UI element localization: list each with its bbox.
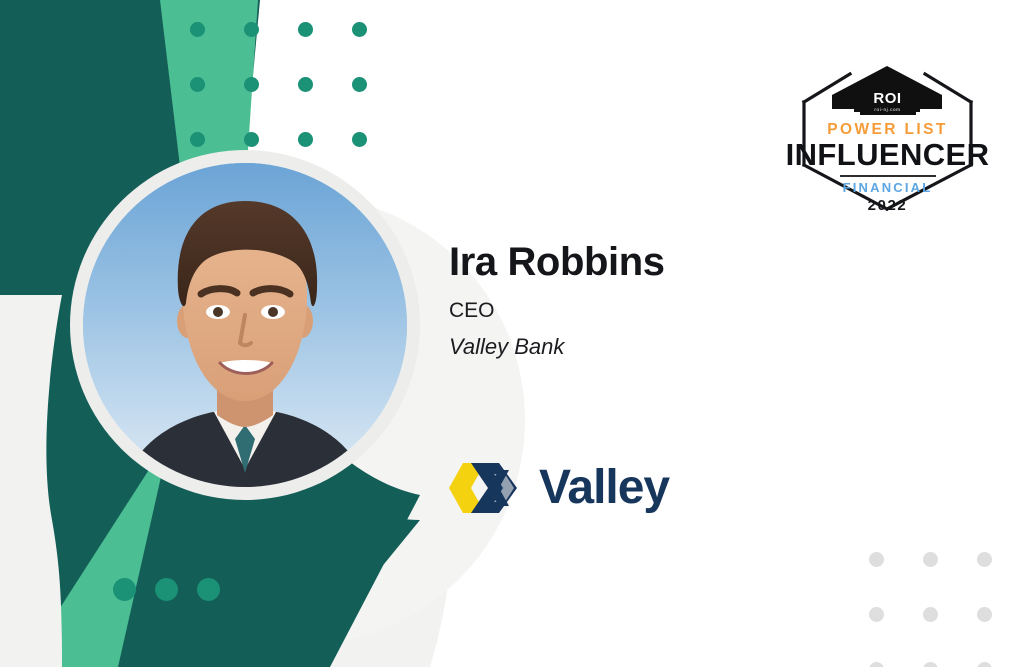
dot <box>977 607 992 622</box>
dot <box>352 77 367 92</box>
dot <box>244 77 259 92</box>
dot <box>352 132 367 147</box>
dot <box>977 662 992 667</box>
dot <box>869 662 884 667</box>
award-badge: ROI roi-nj.com POWER LIST INFLUENCER FIN… <box>780 62 995 212</box>
award-badge-divider <box>840 175 936 177</box>
person-role: CEO <box>449 298 665 323</box>
dot <box>190 132 205 147</box>
portrait-illustration <box>83 163 407 487</box>
company-logo: Valley <box>447 457 669 519</box>
dot <box>190 77 205 92</box>
person-company: Valley Bank <box>449 334 665 360</box>
roi-publisher-url: roi-nj.com <box>874 108 900 113</box>
dot <box>352 22 367 37</box>
award-badge-text-layer: ROI roi-nj.com POWER LIST INFLUENCER FIN… <box>780 62 995 212</box>
dot <box>923 607 938 622</box>
dot <box>113 578 136 601</box>
dot <box>190 22 205 37</box>
roi-publisher-mark: ROI roi-nj.com <box>860 89 916 115</box>
award-badge-category: FINANCIAL <box>780 181 995 194</box>
page-title: Ira Robbins <box>449 240 665 284</box>
dot <box>923 552 938 567</box>
valley-logo-icon <box>447 457 525 519</box>
dot <box>244 132 259 147</box>
dot <box>197 578 220 601</box>
dot-grid-bottom-right <box>869 552 1024 667</box>
person-info-block: Ira Robbins CEO Valley Bank <box>449 240 665 361</box>
dot <box>244 22 259 37</box>
profile-card: Ira Robbins CEO Valley Bank Valley <box>0 0 1024 667</box>
avatar <box>70 150 420 500</box>
award-badge-eyebrow: POWER LIST <box>780 122 995 138</box>
dot <box>923 662 938 667</box>
dot <box>155 578 178 601</box>
dot-row-bottom-left <box>113 578 220 601</box>
dot <box>977 552 992 567</box>
dot <box>869 607 884 622</box>
dot <box>869 552 884 567</box>
valley-logo-wordmark: Valley <box>539 464 669 512</box>
dot-grid-top <box>190 22 376 156</box>
dot <box>298 22 313 37</box>
dot <box>298 132 313 147</box>
portrait-photo <box>83 163 407 487</box>
award-badge-headline: INFLUENCER <box>780 139 995 170</box>
roi-publisher-wordmark: ROI <box>873 91 901 106</box>
dot <box>298 77 313 92</box>
award-badge-year: 2022 <box>780 198 995 213</box>
